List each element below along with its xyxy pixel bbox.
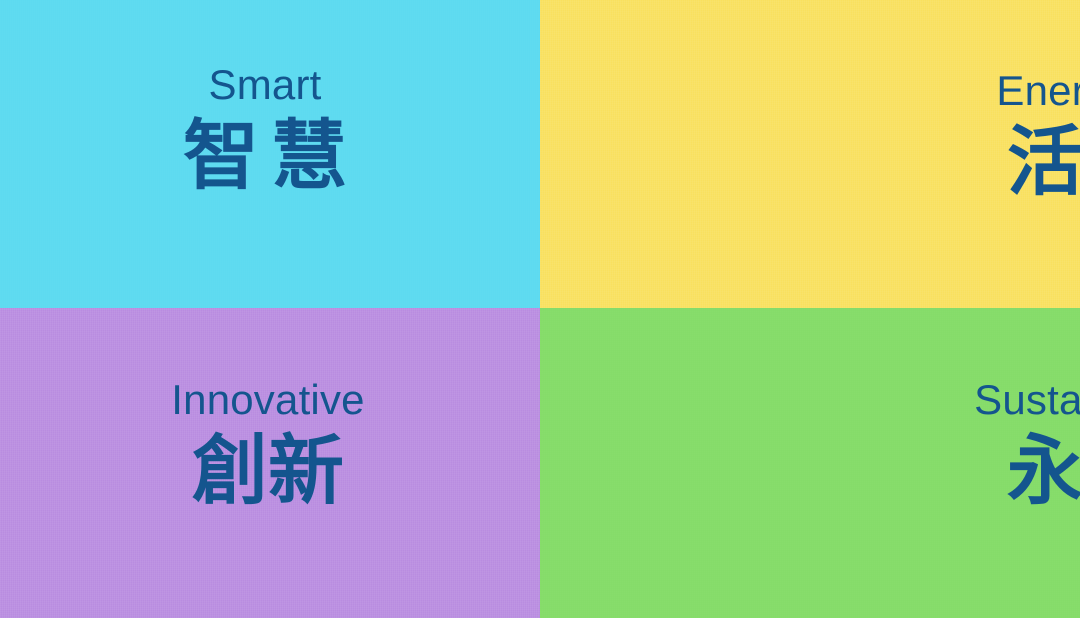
quadrant-innovative[interactable]: Innovative 創新	[0, 308, 540, 618]
quadrant-innovative-text: Innovative 創新	[171, 379, 364, 510]
quadrant-smart-english-label: Smart	[208, 64, 321, 106]
quadrant-smart-text: Smart 智慧	[171, 64, 359, 195]
quadrant-energetic-text: Energetic 活力	[996, 70, 1080, 201]
quadrant-energetic-chinese-label: 活力	[1001, 125, 1080, 201]
quadrant-innovative-english-label: Innovative	[171, 379, 364, 421]
quadrant-smart[interactable]: Smart 智慧	[0, 0, 540, 308]
quadrant-sustainable-text: Sustainable 永續	[974, 379, 1080, 510]
value-quadrant-grid: Smart 智慧 Energetic 活力 Innovative 創新 Sust…	[0, 0, 1080, 618]
quadrant-sustainable-english-label: Sustainable	[974, 379, 1080, 421]
quadrant-sustainable[interactable]: Sustainable 永續	[540, 308, 1080, 618]
quadrant-innovative-chinese-label: 創新	[192, 434, 344, 510]
quadrant-smart-chinese-label: 智慧	[171, 119, 359, 195]
quadrant-energetic[interactable]: Energetic 活力	[540, 0, 1080, 308]
quadrant-energetic-english-label: Energetic	[996, 70, 1080, 112]
quadrant-sustainable-chinese-label: 永續	[1003, 434, 1080, 510]
brand-values-graphic: Smart 智慧 Energetic 活力 Innovative 創新 Sust…	[0, 0, 1080, 618]
